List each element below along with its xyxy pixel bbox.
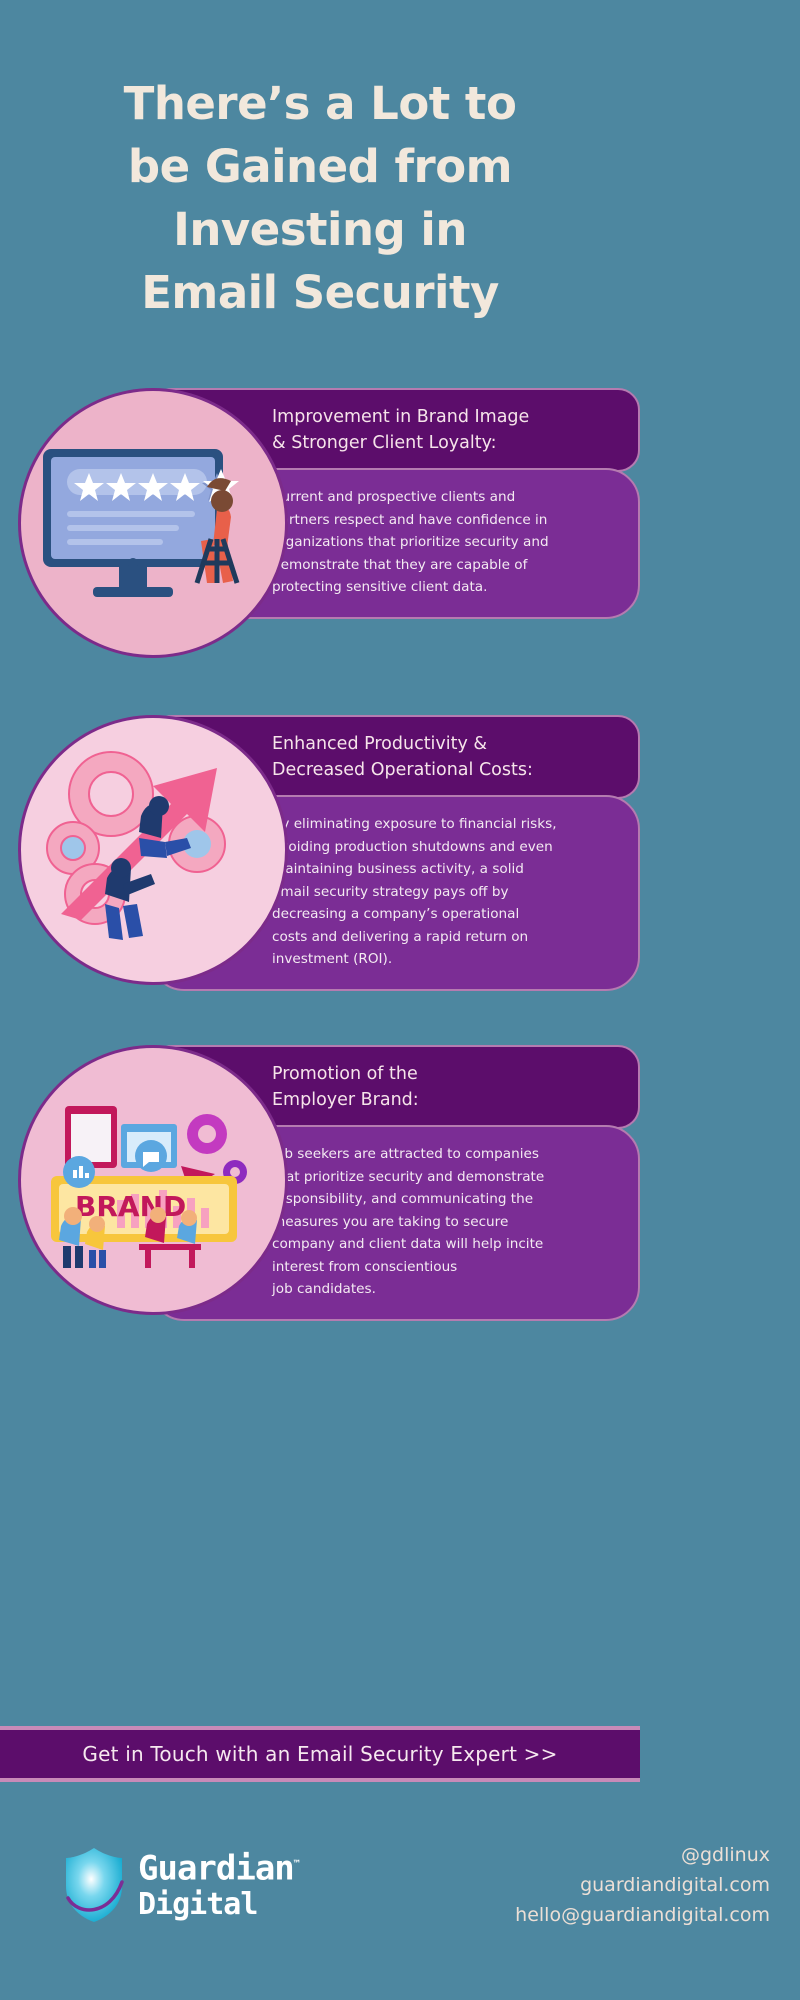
- body-line-3: responsibility, and communicating the: [272, 1188, 620, 1211]
- body-line-4: measures you are taking to secure: [272, 1211, 620, 1234]
- heading-line-2: Decreased Operational Costs:: [272, 757, 620, 783]
- section-productivity: Enhanced Productivity & Decreased Operat…: [0, 715, 640, 1055]
- monitor-star-rating-illustration: [18, 388, 288, 658]
- body-line-2: that prioritize security and demonstrate: [272, 1166, 620, 1189]
- title-line-2: be Gained from: [0, 135, 640, 198]
- contact-handle[interactable]: @gdlinux: [515, 1840, 770, 1870]
- shield-icon: [62, 1846, 126, 1924]
- brand-board-illustration: BRAND: [18, 1045, 288, 1315]
- title-line-3: Investing in: [0, 198, 640, 261]
- body-line-2: partners respect and have confidence in: [272, 509, 620, 532]
- heading-line-1: Promotion of the: [272, 1061, 620, 1087]
- heading-line-2: & Stronger Client Loyalty:: [272, 430, 620, 456]
- infographic-page: There’s a Lot to be Gained from Investin…: [0, 0, 800, 2000]
- contact-info: @gdlinux guardiandigital.com hello@guard…: [515, 1840, 770, 1930]
- body-line-7: job candidates.: [272, 1278, 620, 1301]
- heading-line-2: Employer Brand:: [272, 1087, 620, 1113]
- body-line-6: interest from conscientious: [272, 1256, 620, 1279]
- section-employer-brand: Promotion of the Employer Brand: Job see…: [0, 1045, 640, 1345]
- body-line-4: email security strategy pays off by: [272, 881, 620, 904]
- logo-line-1: Guardian™: [138, 1848, 299, 1885]
- body-line-7: investment (ROI).: [272, 948, 620, 971]
- body-line-2: avoiding production shutdowns and even: [272, 836, 620, 859]
- body-line-3: maintaining business activity, a solid: [272, 858, 620, 881]
- contact-website[interactable]: guardiandigital.com: [515, 1870, 770, 1900]
- body-line-1: Current and prospective clients and: [272, 486, 620, 509]
- logo-wordmark: Guardian™ Digital: [138, 1848, 299, 1922]
- body-line-5: protecting sensitive client data.: [272, 576, 620, 599]
- body-line-5: decreasing a company’s operational: [272, 903, 620, 926]
- gears-growth-arrow-icon: [21, 718, 288, 985]
- title-line-1: There’s a Lot to: [0, 72, 640, 135]
- body-line-5: company and client data will help incite: [272, 1233, 620, 1256]
- body-line-1: By eliminating exposure to financial ris…: [272, 813, 620, 836]
- brand-board-icon: BRAND: [21, 1048, 288, 1315]
- brand-logo: Guardian™ Digital: [62, 1846, 299, 1924]
- title-line-4: Email Security: [0, 261, 640, 324]
- gears-growth-arrow-illustration: [18, 715, 288, 985]
- monitor-star-rating-icon: [21, 391, 288, 658]
- logo-line-2: Digital: [138, 1888, 299, 1922]
- body-line-4: demonstrate that they are capable of: [272, 554, 620, 577]
- cta-label[interactable]: Get in Touch with an Email Security Expe…: [82, 1742, 557, 1766]
- section-brand-image: Improvement in Brand Image & Stronger Cl…: [0, 388, 640, 688]
- body-line-6: costs and delivering a rapid return on: [272, 926, 620, 949]
- page-title: There’s a Lot to be Gained from Investin…: [0, 72, 640, 324]
- trademark-symbol: ™: [294, 1859, 299, 1870]
- body-line-1: Job seekers are attracted to companies: [272, 1143, 620, 1166]
- heading-line-1: Improvement in Brand Image: [272, 404, 620, 430]
- footer: Guardian™ Digital @gdlinux guardiandigit…: [0, 1800, 800, 2000]
- body-line-3: organizations that prioritize security a…: [272, 531, 620, 554]
- heading-line-1: Enhanced Productivity &: [272, 731, 620, 757]
- contact-email[interactable]: hello@guardiandigital.com: [515, 1900, 770, 1930]
- cta-banner[interactable]: Get in Touch with an Email Security Expe…: [0, 1726, 640, 1782]
